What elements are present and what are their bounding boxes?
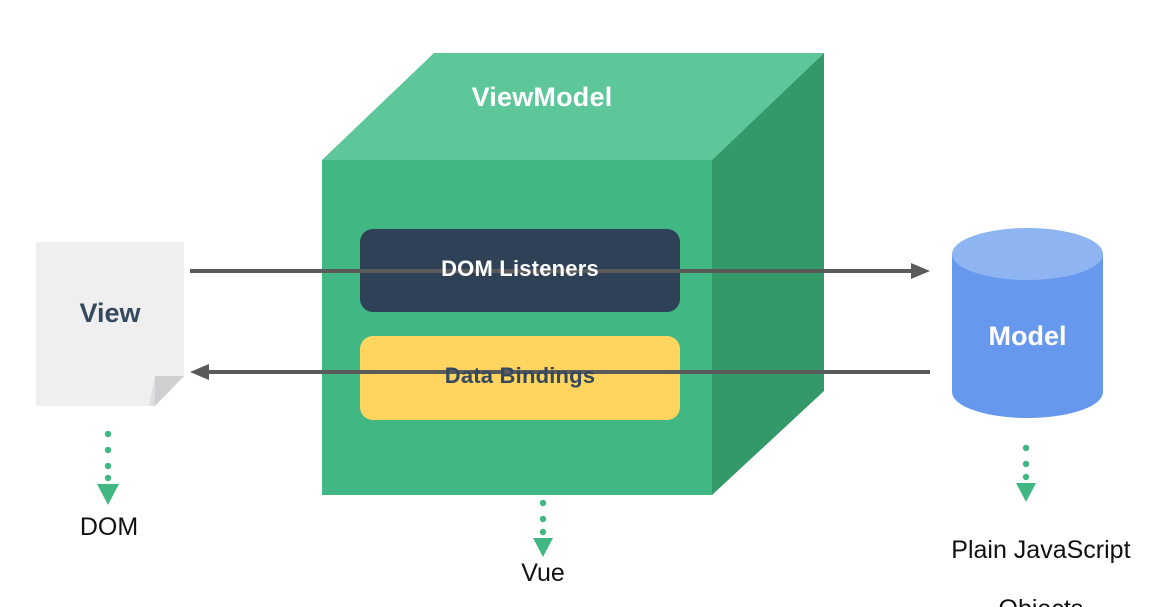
cylinder-top-ellipse <box>952 228 1103 280</box>
view-dotted-arrow <box>97 431 119 505</box>
model-caption-line2: Objects <box>999 595 1084 607</box>
arrowhead-right <box>911 263 930 279</box>
viewmodel-dotted-arrow <box>533 500 553 557</box>
dot <box>105 475 111 481</box>
dotted-arrowhead <box>533 538 553 557</box>
dot <box>1023 445 1029 451</box>
dot <box>105 447 111 453</box>
dot <box>540 529 546 535</box>
view-folded-corner <box>155 376 184 406</box>
data-bindings-label: Data Bindings <box>360 363 680 389</box>
arrowhead-left <box>190 364 209 380</box>
model-caption: Plain JavaScript Objects <box>912 506 1142 607</box>
cube-front-face <box>322 160 712 495</box>
diagram-canvas: ViewModel View Model DOM Listeners Data … <box>0 0 1168 607</box>
dotted-arrowhead <box>1016 483 1036 502</box>
viewmodel-caption: Vue <box>458 559 628 589</box>
dotted-arrowhead <box>97 484 119 505</box>
view-label: View <box>36 298 184 330</box>
dot <box>1023 474 1029 480</box>
dot <box>105 463 111 469</box>
view-caption: DOM <box>24 513 194 543</box>
model-label: Model <box>952 321 1103 353</box>
dot <box>1023 461 1029 467</box>
viewmodel-label: ViewModel <box>322 82 762 114</box>
dot <box>540 500 546 506</box>
dot <box>540 516 546 522</box>
model-dotted-arrow <box>1016 445 1036 502</box>
dot <box>105 431 111 437</box>
dom-listeners-label: DOM Listeners <box>360 256 680 282</box>
model-caption-line1: Plain JavaScript <box>951 536 1130 564</box>
